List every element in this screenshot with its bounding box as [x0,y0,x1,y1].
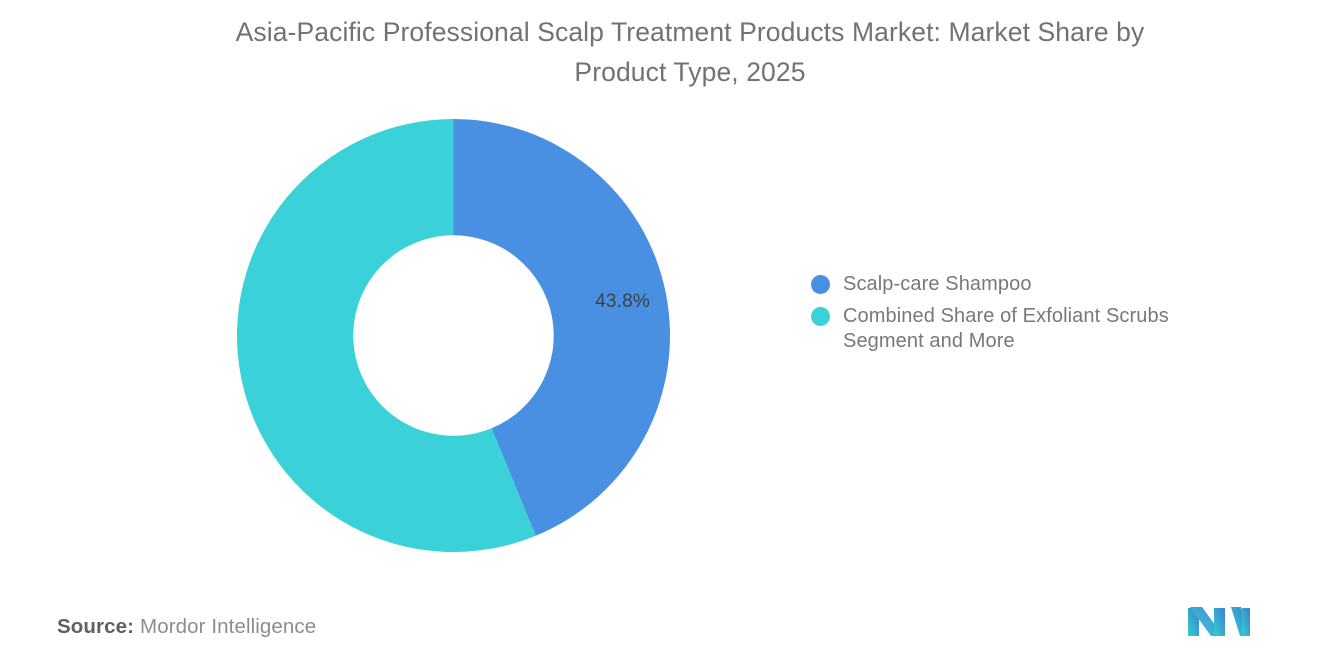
legend-item-label: Scalp-care Shampoo [843,272,1032,297]
legend-item-combined-share-exfoliant-scrubs[interactable]: Combined Share of Exfoliant Scrubs Segme… [811,304,1261,354]
donut-chart: 43.8% [237,119,670,552]
logo-svg [1186,600,1252,638]
donut-chart-svg [237,119,670,552]
chart-title: Asia-Pacific Professional Scalp Treatmen… [160,12,1220,92]
source-label: Source: [57,615,134,638]
legend-item-label: Combined Share of Exfoliant Scrubs Segme… [843,304,1243,354]
mordor-intelligence-logo-icon [1186,600,1252,638]
source-value: Mordor Intelligence [140,615,316,638]
chart-legend: Scalp-care Shampoo Combined Share of Exf… [811,272,1261,361]
legend-item-scalp-care-shampoo[interactable]: Scalp-care Shampoo [811,272,1261,297]
chart-canvas: Asia-Pacific Professional Scalp Treatmen… [0,0,1320,665]
circle-swatch-icon [811,275,830,294]
circle-swatch-icon [811,307,830,326]
source-attribution: Source:Mordor Intelligence [57,613,316,641]
donut-slice-group [237,119,670,552]
